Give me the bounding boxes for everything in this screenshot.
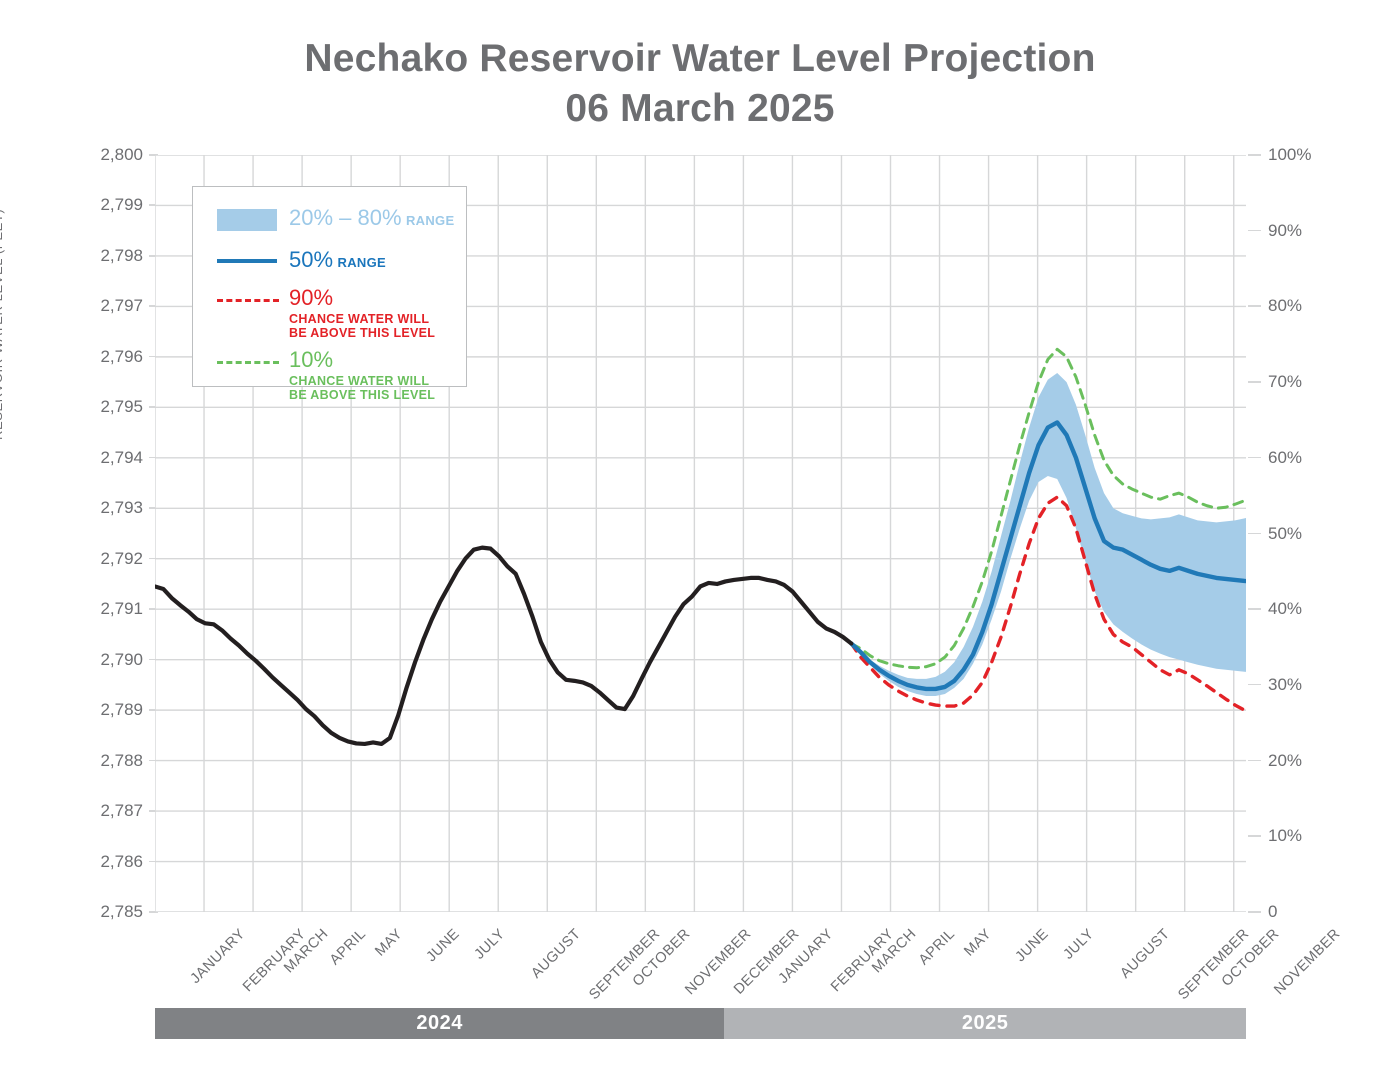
y-tick-label-left: 2,792	[55, 549, 143, 569]
x-tick-label: APRIL	[327, 926, 369, 968]
y-tick-label-left: 2,789	[55, 700, 143, 720]
chart-legend: 20% – 80% RANGE 50% RANGE 90% CHANCE WAT…	[192, 186, 467, 387]
page-title: Nechako Reservoir Water Level Projection…	[0, 34, 1400, 134]
y-tick-label-left: 2,790	[55, 650, 143, 670]
y-tick-label-right: 100%	[1268, 145, 1338, 165]
y-tick-mark-right	[1248, 684, 1261, 686]
y-tick-label-right: 50%	[1268, 524, 1338, 544]
y-tick-label-right: 80%	[1268, 296, 1338, 316]
line-historical	[155, 548, 851, 744]
legend-swatch-p90	[217, 299, 279, 302]
chart-page: Nechako Reservoir Water Level Projection…	[0, 0, 1400, 1082]
legend-median-unit: RANGE	[338, 255, 386, 270]
legend-band-value: 20% – 80%	[289, 205, 402, 230]
legend-median-value: 50%	[289, 247, 333, 272]
y-tick-mark-right	[1248, 305, 1261, 307]
series-layer	[155, 349, 1246, 744]
y-tick-label-left: 2,798	[55, 246, 143, 266]
legend-label-p10: 10% CHANCE WATER WILL BE ABOVE THIS LEVE…	[289, 349, 435, 402]
y-tick-label-right: 30%	[1268, 675, 1338, 695]
y-tick-label-right: 20%	[1268, 751, 1338, 771]
legend-swatch-median	[217, 259, 277, 263]
y-tick-label-left: 2,791	[55, 599, 143, 619]
y-tick-label-left: 2,799	[55, 195, 143, 215]
legend-p90-desc-1: CHANCE WATER WILL	[289, 312, 435, 326]
y-tick-label-left: 2,796	[55, 347, 143, 367]
title-line-1: Nechako Reservoir Water Level Projection	[0, 34, 1400, 84]
x-tick-label: JUNE	[424, 926, 463, 965]
y-tick-label-right: 40%	[1268, 599, 1338, 619]
y-tick-mark-right	[1248, 381, 1261, 383]
legend-p10-desc-1: CHANCE WATER WILL	[289, 374, 435, 388]
x-tick-label: JUNE	[1012, 926, 1051, 965]
y-tick-label-left: 2,793	[55, 498, 143, 518]
y-tick-label-left: 2,785	[55, 902, 143, 922]
y-tick-mark-right	[1248, 457, 1261, 459]
legend-label-p90: 90% CHANCE WATER WILL BE ABOVE THIS LEVE…	[289, 287, 435, 340]
x-tick-label: MAY	[961, 926, 995, 960]
legend-swatch-band	[217, 209, 277, 231]
year-bar: 20242025	[155, 1008, 1246, 1039]
y-tick-mark-right	[1248, 154, 1261, 156]
legend-label-median: 50% RANGE	[289, 249, 386, 272]
band-20-80	[851, 373, 1246, 696]
legend-label-band: 20% – 80% RANGE	[289, 207, 454, 230]
y-tick-label-left: 2,794	[55, 448, 143, 468]
y-tick-label-left: 2,787	[55, 801, 143, 821]
x-tick-label: AUGUST	[1117, 926, 1173, 982]
y-tick-label-right: 90%	[1268, 221, 1338, 241]
x-tick-label: JULY	[472, 926, 509, 963]
legend-p90-desc-2: BE ABOVE THIS LEVEL	[289, 326, 435, 340]
y-tick-label-right: 60%	[1268, 448, 1338, 468]
year-segment-2024: 2024	[155, 1008, 724, 1039]
y-tick-mark-right	[1248, 835, 1261, 837]
y-tick-label-left: 2,800	[55, 145, 143, 165]
legend-p10-desc-2: BE ABOVE THIS LEVEL	[289, 388, 435, 402]
y-tick-mark-right	[1248, 533, 1261, 535]
legend-p90-value: 90%	[289, 287, 435, 309]
y-tick-mark-right	[1248, 608, 1261, 610]
x-tick-label: JULY	[1060, 926, 1097, 963]
legend-swatch-p10	[217, 361, 279, 364]
y-tick-mark-right	[1248, 911, 1261, 913]
legend-band-unit: RANGE	[406, 213, 454, 228]
y-tick-label-right: 10%	[1268, 826, 1338, 846]
year-segment-2025: 2025	[724, 1008, 1246, 1039]
title-line-2: 06 March 2025	[0, 84, 1400, 134]
x-tick-label: MAY	[372, 926, 406, 960]
x-tick-label: APRIL	[915, 926, 957, 968]
y-tick-label-right: 0	[1268, 902, 1338, 922]
y-tick-label-left: 2,788	[55, 751, 143, 771]
y-tick-mark-right	[1248, 230, 1261, 232]
y-axis-title: RESERVOIR WATER LEVEL (FEET)	[0, 209, 5, 440]
y-tick-mark-right	[1248, 760, 1261, 762]
x-tick-label: JANUARY	[188, 926, 249, 987]
x-tick-label: AUGUST	[529, 926, 585, 982]
y-tick-label-right: 70%	[1268, 372, 1338, 392]
y-tick-label-left: 2,797	[55, 296, 143, 316]
y-tick-label-left: 2,786	[55, 852, 143, 872]
legend-p10-value: 10%	[289, 349, 435, 371]
y-tick-label-left: 2,795	[55, 397, 143, 417]
